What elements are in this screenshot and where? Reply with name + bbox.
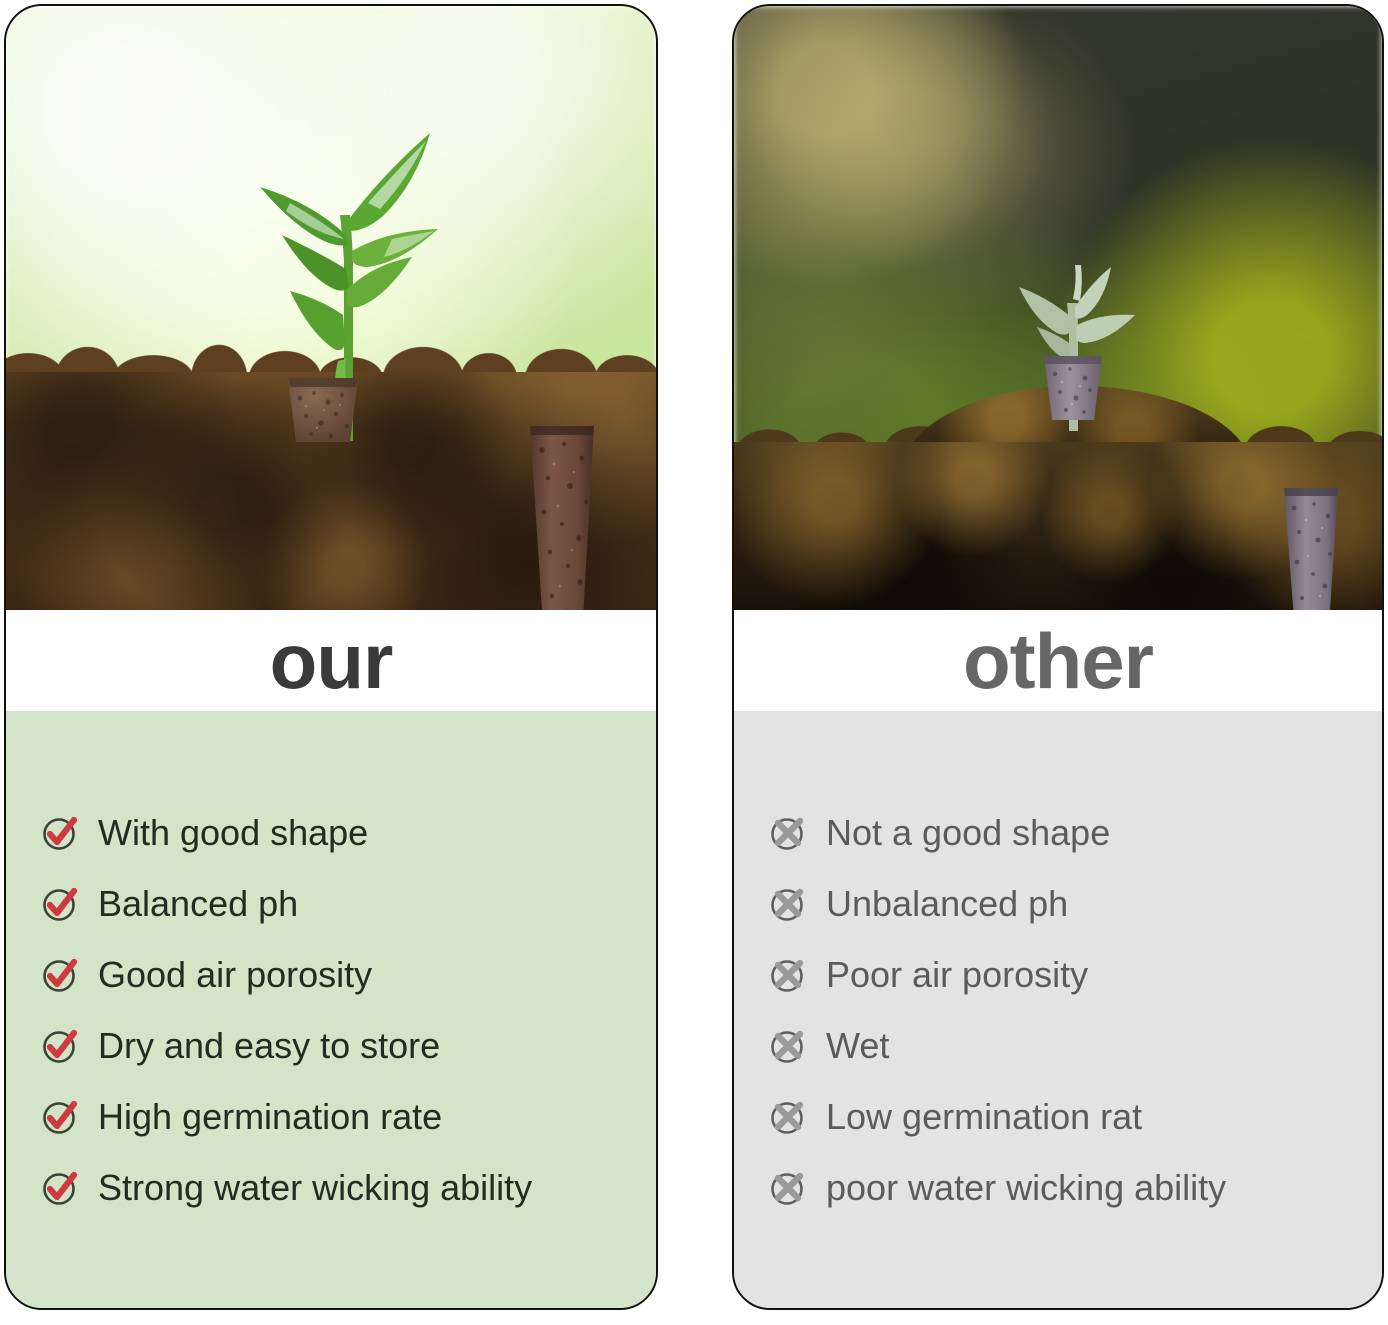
feature-label: Low germination rat — [826, 1099, 1142, 1135]
feature-item: Poor air porosity — [734, 939, 1382, 1010]
check-circle-icon — [40, 955, 80, 995]
grow-plug-potted — [1040, 354, 1106, 420]
comparison-card-other: other Not a good shape — [732, 4, 1384, 1310]
feature-label: Unbalanced ph — [826, 886, 1068, 922]
check-circle-icon — [40, 1168, 80, 1208]
feature-list-other: Not a good shape Unbalanced ph — [734, 797, 1382, 1223]
feature-label: Strong water wicking ability — [98, 1170, 532, 1206]
feature-label: Dry and easy to store — [98, 1028, 440, 1064]
feature-item: High germination rate — [6, 1081, 656, 1152]
feature-panel-ours: With good shape Balanced ph Good air por… — [6, 711, 656, 1308]
feature-item: poor water wicking ability — [734, 1152, 1382, 1223]
feature-item: With good shape — [6, 797, 656, 868]
check-circle-icon — [40, 884, 80, 924]
column-heading-band-ours: our — [6, 610, 656, 711]
feature-label: Not a good shape — [826, 815, 1110, 851]
feature-item: Dry and easy to store — [6, 1010, 656, 1081]
grow-plug-standalone — [524, 420, 600, 610]
column-heading-other: other — [963, 622, 1153, 700]
check-circle-icon — [40, 813, 80, 853]
grow-plug-potted — [284, 376, 362, 442]
comparison-card-ours: our With good shape Balanced ph — [4, 4, 658, 1310]
feature-item: Balanced ph — [6, 868, 656, 939]
feature-label: With good shape — [98, 815, 368, 851]
x-circle-icon — [768, 1026, 808, 1066]
x-circle-icon — [768, 813, 808, 853]
feature-label: Wet — [826, 1028, 889, 1064]
feature-item: Not a good shape — [734, 797, 1382, 868]
column-heading-band-other: other — [734, 610, 1382, 711]
check-circle-icon — [40, 1097, 80, 1137]
product-photo-ours — [6, 6, 656, 610]
feature-list-ours: With good shape Balanced ph Good air por… — [6, 797, 656, 1223]
column-heading-ours: our — [270, 622, 393, 700]
grow-plug-standalone — [1280, 484, 1342, 610]
comparison-board: our With good shape Balanced ph — [0, 0, 1388, 1325]
feature-item: Good air porosity — [6, 939, 656, 1010]
x-circle-icon — [768, 884, 808, 924]
feature-item: Low germination rat — [734, 1081, 1382, 1152]
feature-label: poor water wicking ability — [826, 1170, 1226, 1206]
feature-item: Unbalanced ph — [734, 868, 1382, 939]
feature-label: High germination rate — [98, 1099, 442, 1135]
x-circle-icon — [768, 955, 808, 995]
feature-label: Poor air porosity — [826, 957, 1088, 993]
feature-panel-other: Not a good shape Unbalanced ph — [734, 711, 1382, 1308]
x-circle-icon — [768, 1097, 808, 1137]
feature-label: Balanced ph — [98, 886, 298, 922]
x-circle-icon — [768, 1168, 808, 1208]
product-photo-other — [734, 6, 1382, 610]
check-circle-icon — [40, 1026, 80, 1066]
feature-label: Good air porosity — [98, 957, 372, 993]
feature-item: Strong water wicking ability — [6, 1152, 656, 1223]
feature-item: Wet — [734, 1010, 1382, 1081]
